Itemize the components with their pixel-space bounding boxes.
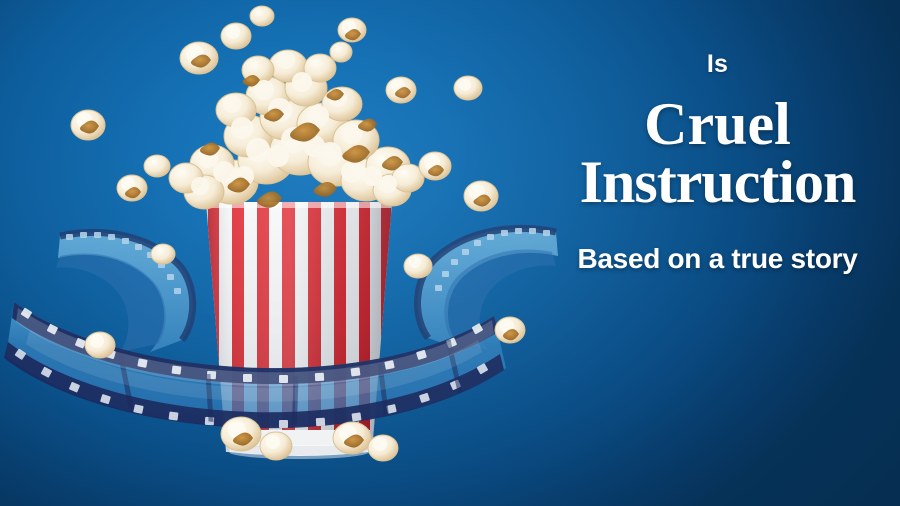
poster-canvas: Is Cruel Instruction Based on a true sto… <box>0 0 900 506</box>
title-line-1: Cruel <box>644 91 791 157</box>
popcorn-pile <box>169 50 424 209</box>
title-line-2: Instruction <box>545 153 890 211</box>
page-title: Cruel Instruction <box>545 95 890 211</box>
poster-text-block: Is Cruel Instruction Based on a true sto… <box>545 52 890 273</box>
subtitle-text: Based on a true story <box>545 245 890 273</box>
kicker-text: Is <box>545 52 890 77</box>
